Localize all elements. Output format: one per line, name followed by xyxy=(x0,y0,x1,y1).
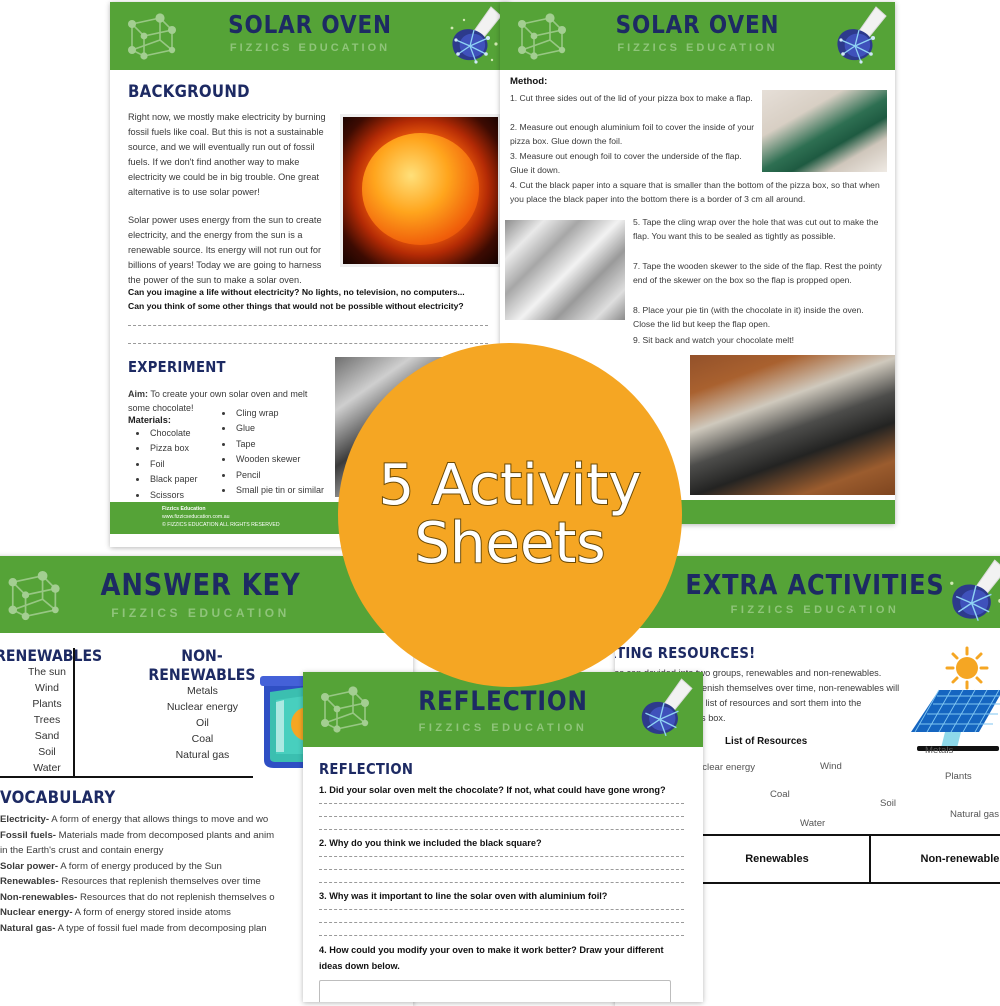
materials-label-text: Materials: xyxy=(128,415,171,425)
sheet2-banner: SOLAR OVEN FIZZICS EDUCATION xyxy=(500,2,895,70)
sun-icon xyxy=(947,648,987,688)
vocab-def: A form of energy that allows things to m… xyxy=(51,814,268,825)
sheet4-title: REFLECTION xyxy=(331,686,675,717)
method-step-3: 3. Measure out enough foil to cover the … xyxy=(510,150,760,178)
renewables-column: RENEWABLES The sun Wind Plants Trees San… xyxy=(0,646,106,777)
table-divider xyxy=(73,648,75,776)
five-activity-sheets-badge: 5 Activity Sheets xyxy=(338,343,682,687)
experiment-heading: EXPERIMENT xyxy=(128,358,226,376)
method-heading: Method: xyxy=(510,76,547,87)
vocab-def: Resources that do not replenish themselv… xyxy=(80,892,275,903)
sorting-resources-heading: SORTING RESOURCES! xyxy=(615,644,755,662)
renewable-item: Sand xyxy=(0,729,106,745)
renewable-item: Soil xyxy=(0,745,106,761)
reflect-question-line-1: Can you imagine a life without electrici… xyxy=(128,285,503,300)
reflection-answer-line[interactable] xyxy=(319,909,684,910)
reflection-question-4: 4. How could you modify your oven to mak… xyxy=(319,942,679,974)
renewable-item: Trees xyxy=(0,713,106,729)
vocab-term: Solar power- xyxy=(0,861,58,872)
vocab-def: A form of energy produced by the Sun xyxy=(60,861,222,872)
sheet5-title: EXTRA ACTIVITIES xyxy=(643,568,987,601)
renewable-item: Water xyxy=(0,761,106,777)
method-step-1: 1. Cut three sides out of the lid of you… xyxy=(510,92,760,106)
sorting-table[interactable]: Renewables Non-renewables xyxy=(683,834,1000,884)
vocab-def: A type of fossil fuel made from decompos… xyxy=(58,923,267,934)
background-paragraph-2: Solar power uses energy from the sun to … xyxy=(128,213,333,288)
background-paragraph-1: Right now, we mostly make electricity by… xyxy=(128,110,333,199)
resource-word-natural-gas[interactable]: Natural gas xyxy=(950,809,999,820)
sheet1-banner: SOLAR OVEN FIZZICS EDUCATION xyxy=(110,2,510,70)
fizzics-splat-icon xyxy=(829,4,889,66)
vocab-term: Non-renewables- xyxy=(0,892,77,903)
footer-copyright: © FIZZICS EDUCATION ALL RIGHTS RESERVED xyxy=(162,522,280,530)
cutting-pizza-box-photo xyxy=(762,90,887,172)
background-heading: BACKGROUND xyxy=(128,82,250,102)
method-step-4: 4. Cut the black paper into a square tha… xyxy=(510,179,890,207)
sorting-table-header-non-renewables[interactable]: Non-renewables xyxy=(869,836,1000,882)
reflection-answer-line[interactable] xyxy=(319,882,684,883)
resource-word-wind[interactable]: Wind xyxy=(820,761,842,772)
answer-line-2[interactable] xyxy=(128,343,488,344)
renewable-item: The sun xyxy=(0,665,106,681)
finished-solar-oven-photo xyxy=(690,355,895,495)
vocab-term: Fossil fuels- xyxy=(0,830,56,841)
vocab-def: Resources that replenish themselves over… xyxy=(61,876,260,887)
vocab-term: Electricity- xyxy=(0,814,49,825)
reflection-answer-line[interactable] xyxy=(319,856,684,857)
badge-line-1: 5 Activity xyxy=(379,457,642,515)
method-step-7: 7. Tape the wooden skewer to the side of… xyxy=(633,260,883,288)
resource-word-water[interactable]: Water xyxy=(800,818,825,829)
vocab-term: Renewables- xyxy=(0,876,59,887)
method-step-5: 5. Tape the cling wrap over the hole tha… xyxy=(633,216,883,244)
vocab-term: Natural gas- xyxy=(0,923,55,934)
reflection-answer-line[interactable] xyxy=(319,829,684,830)
resource-word-soil[interactable]: Soil xyxy=(880,798,896,809)
sheet3-title: ANSWER KEY xyxy=(18,568,384,603)
renewable-item: Plants xyxy=(0,697,106,713)
reflection-question-2: 2. Why do you think we included the blac… xyxy=(319,835,689,851)
answer-line-1[interactable] xyxy=(128,325,488,326)
reflect-question-line-2: Can you think of some other things that … xyxy=(128,299,503,314)
method-step-8: 8. Place your pie tin (with the chocolat… xyxy=(633,304,883,332)
sheet3-subtitle: FIZZICS EDUCATION xyxy=(0,606,413,620)
answer-key-table: RENEWABLES The sun Wind Plants Trees San… xyxy=(0,646,288,777)
list-of-resources-heading: List of Resources xyxy=(725,736,807,747)
sheet1-title: SOLAR OVEN xyxy=(138,10,482,39)
reflection-answer-line[interactable] xyxy=(319,803,684,804)
activity-sheet-reflection[interactable]: REFLECTION FIZZICS EDUCATION REFLECTION … xyxy=(303,672,703,1002)
badge-line-2: Sheets xyxy=(414,515,605,573)
renewable-item: Wind xyxy=(0,681,106,697)
method-step-2: 2. Measure out enough aluminium foil to … xyxy=(510,121,760,149)
footer-website[interactable]: www.fizzicseducation.com.au xyxy=(162,514,229,522)
vocab-def: Materials made from decomposed plants an… xyxy=(59,830,274,841)
fizzics-splat-icon xyxy=(633,676,695,740)
vocab-term: Nuclear energy- xyxy=(0,907,73,918)
renewables-header: RENEWABLES xyxy=(0,646,99,665)
footer-brand: Fizzics Education xyxy=(162,506,206,514)
fizzics-splat-icon xyxy=(943,556,1000,626)
reflection-question-3: 3. Why was it important to line the sola… xyxy=(319,888,689,904)
vocab-def: in the Earth's crust and contain energy xyxy=(0,845,163,856)
foil-lined-box-photo xyxy=(505,220,625,320)
solar-panel-illustration xyxy=(905,646,1000,761)
reflection-answer-line[interactable] xyxy=(319,922,684,923)
resource-word-coal[interactable]: Coal xyxy=(770,789,790,800)
sorting-table-header-renewables[interactable]: Renewables xyxy=(685,836,869,882)
resource-word-metals[interactable]: Metals xyxy=(925,745,953,756)
materials-label: Materials: xyxy=(128,415,171,425)
reflection-answer-line[interactable] xyxy=(319,816,684,817)
aim-label: Aim: xyxy=(128,389,148,399)
reflection-answer-line[interactable] xyxy=(319,869,684,870)
table-bottom-rule xyxy=(0,776,253,778)
sun-photo xyxy=(340,114,501,267)
vocabulary-heading-visible: VOCABULARY xyxy=(0,788,115,808)
reflection-question-1: 1. Did your solar oven melt the chocolat… xyxy=(319,782,689,798)
sheet2-title: SOLAR OVEN xyxy=(528,10,868,39)
reflection-answer-line[interactable] xyxy=(319,935,684,936)
resource-word-plants[interactable]: Plants xyxy=(945,771,972,782)
fizzics-splat-icon xyxy=(444,4,504,66)
reflection-section-heading: REFLECTION xyxy=(319,760,413,778)
drawing-box[interactable] xyxy=(319,980,671,1002)
method-step-9: 9. Sit back and watch your chocolate mel… xyxy=(633,334,883,348)
vocab-def: A form of energy stored inside atoms xyxy=(75,907,231,918)
